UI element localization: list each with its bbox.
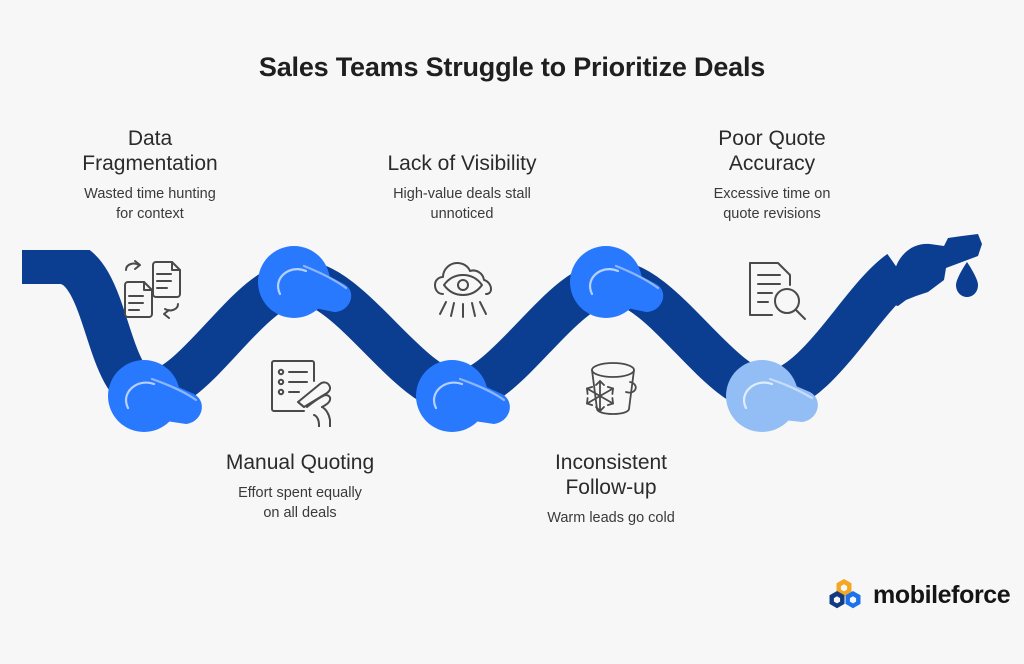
- hand-writing-checklist-icon: [266, 355, 340, 432]
- knot-2: [258, 246, 351, 318]
- pain-point-data-fragmentation: Data Fragmentation Wasted time hunting f…: [40, 126, 260, 225]
- pain-point-title: Data Fragmentation: [40, 126, 260, 176]
- pain-point-lack-of-visibility: Lack of Visibility High-value deals stal…: [352, 151, 572, 224]
- pain-point-subtitle: Effort spent equally on all deals: [190, 484, 410, 523]
- pain-point-subtitle: Wasted time hunting for context: [40, 185, 260, 224]
- knot-5: [726, 360, 818, 432]
- pain-point-title: Poor Quote Accuracy: [662, 126, 882, 176]
- knot-3: [416, 360, 510, 432]
- water-drop-icon: [956, 262, 978, 297]
- pain-point-subtitle: Warm leads go cold: [500, 509, 722, 529]
- eye-in-cloud-icon: [430, 258, 496, 329]
- pain-point-title: Lack of Visibility: [352, 151, 572, 176]
- pipeline-wave-graphic: [0, 0, 1024, 664]
- logo-wordmark: mobileforce: [873, 581, 1010, 610]
- mobileforce-logo: mobileforce: [828, 578, 1010, 612]
- pain-point-poor-quote-accuracy: Poor Quote Accuracy Excessive time on qu…: [662, 126, 882, 225]
- page-title: Sales Teams Struggle to Prioritize Deals: [0, 52, 1024, 83]
- pain-point-subtitle: High-value deals stall unnoticed: [352, 185, 572, 224]
- pain-point-title: Inconsistent Follow-up: [500, 450, 722, 500]
- ice-bucket-snowflake-icon: [580, 358, 646, 427]
- pain-point-manual-quoting: Manual Quoting Effort spent equally on a…: [190, 450, 410, 523]
- document-magnifier-icon: [744, 257, 808, 328]
- hose-nozzle-icon: [886, 234, 982, 306]
- pain-point-inconsistent-follow-up: Inconsistent Follow-up Warm leads go col…: [500, 450, 722, 529]
- infographic-canvas: Sales Teams Struggle to Prioritize Deals: [0, 0, 1024, 664]
- mobileforce-hexagon-mark: [828, 578, 864, 612]
- knot-1: [108, 360, 202, 432]
- pain-point-title: Manual Quoting: [190, 450, 410, 475]
- knot-4: [570, 246, 663, 318]
- pain-point-subtitle: Excessive time on quote revisions: [662, 185, 882, 224]
- document-exchange-icon: [116, 254, 188, 331]
